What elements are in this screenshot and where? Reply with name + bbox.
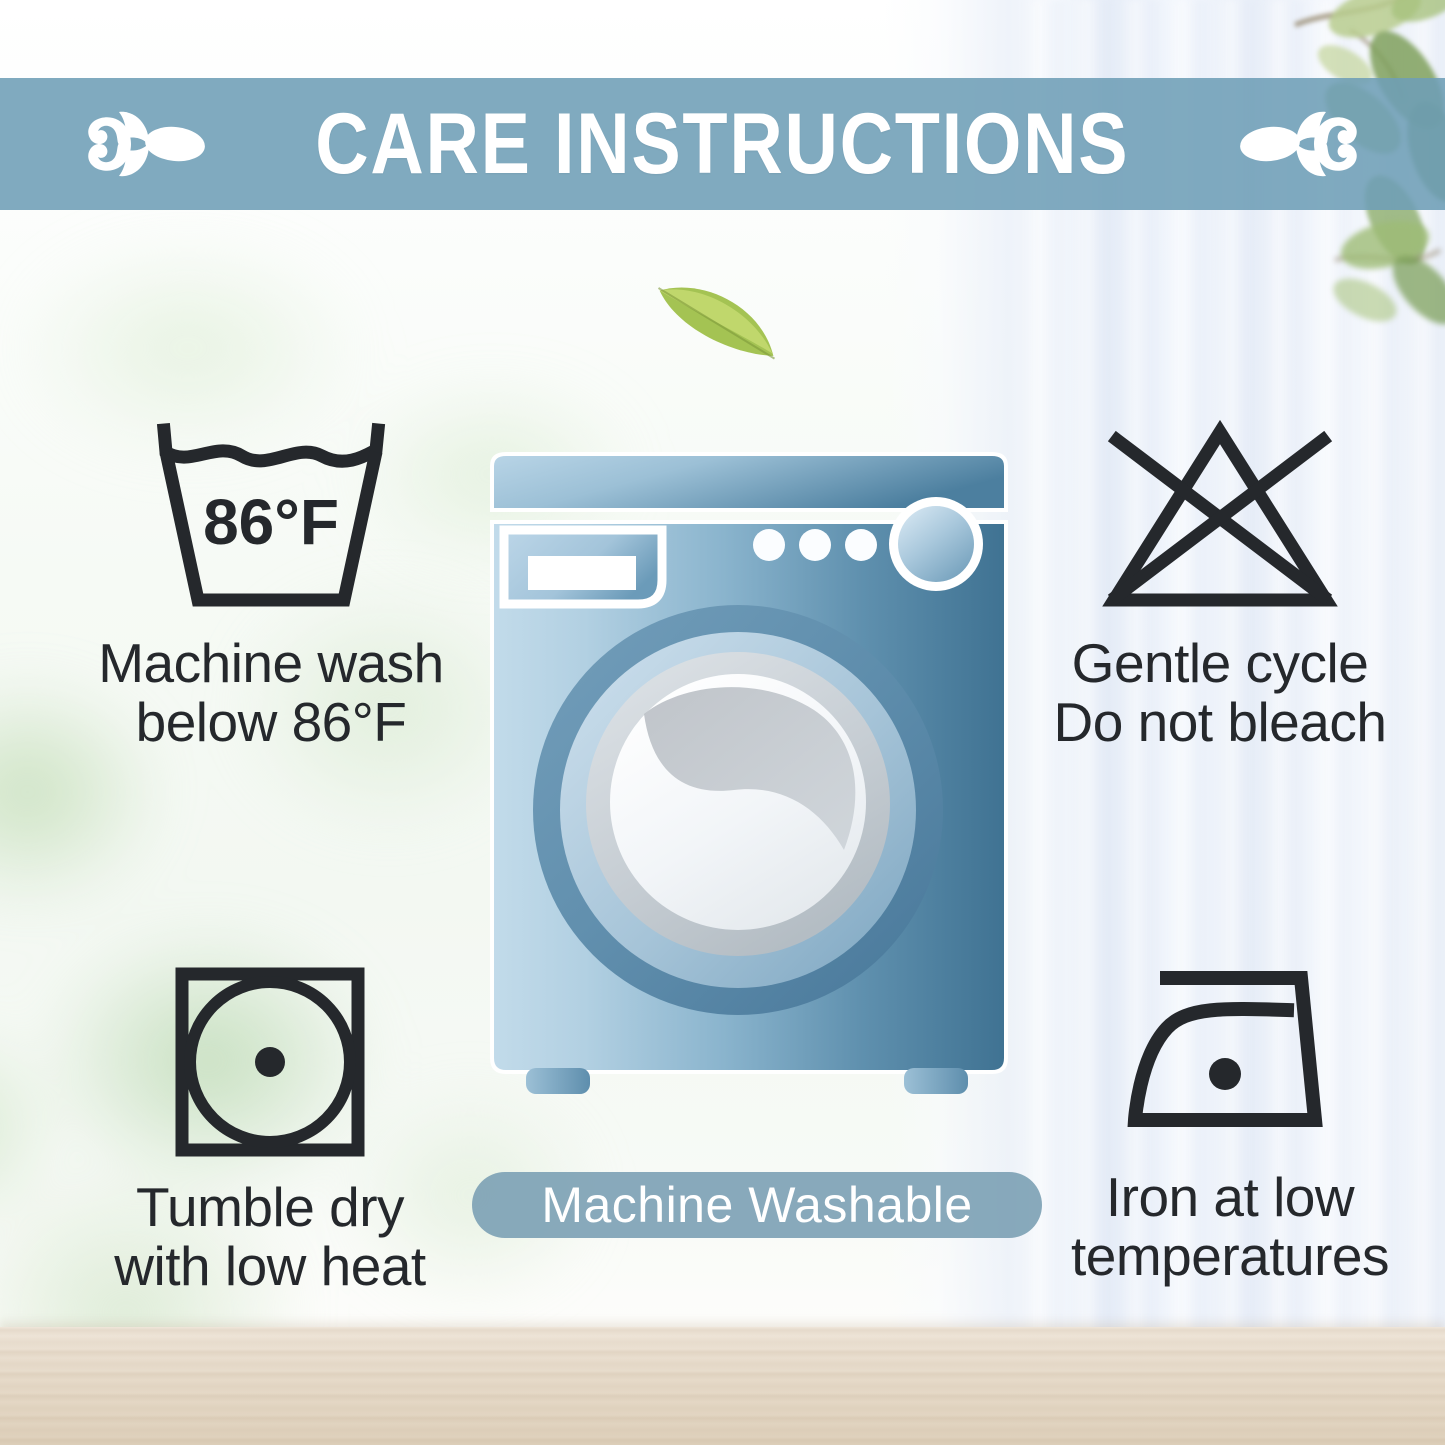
care-symbol-iron: Iron at low temperatures bbox=[1030, 962, 1430, 1287]
indicator-light-2 bbox=[799, 529, 831, 561]
fleur-de-lis-right-icon bbox=[1236, 96, 1386, 192]
iron-low-temperature-icon bbox=[1105, 962, 1355, 1152]
header-banner: CARE INSTRUCTIONS bbox=[0, 78, 1445, 210]
page-title: CARE INSTRUCTIONS bbox=[315, 101, 1129, 187]
fleur-de-lis-left-icon bbox=[59, 96, 209, 192]
triangle-crossed-out-icon bbox=[1095, 418, 1345, 618]
indicator-light-3 bbox=[845, 529, 877, 561]
detergent-drawer-handle[interactable] bbox=[528, 556, 636, 590]
care-instructions-poster: CARE INSTRUCTIONS 86°F Machine wash belo… bbox=[0, 0, 1445, 1445]
washer-foot-left bbox=[526, 1068, 590, 1094]
indicator-light-1 bbox=[753, 529, 785, 561]
dial-knob[interactable] bbox=[898, 506, 974, 582]
foliage-branch-lower-icon bbox=[1215, 190, 1445, 330]
floating-leaf-icon bbox=[640, 272, 790, 382]
machine-washable-badge-label: Machine Washable bbox=[541, 1180, 972, 1230]
care-symbol-label-machine-wash: Machine wash below 86°F bbox=[98, 634, 444, 753]
wash-tub-icon: 86°F bbox=[146, 418, 396, 618]
care-symbol-machine-wash: 86°F Machine wash below 86°F bbox=[36, 418, 506, 753]
care-symbol-label-tumble-dry: Tumble dry with low heat bbox=[114, 1178, 425, 1297]
care-symbol-tumble-dry: Tumble dry with low heat bbox=[70, 962, 470, 1297]
care-symbol-label-do-not-bleach: Gentle cycle Do not bleach bbox=[1054, 634, 1387, 753]
wash-temperature-value: 86°F bbox=[203, 486, 339, 558]
machine-washable-badge: Machine Washable bbox=[472, 1172, 1042, 1238]
washer-foot-right bbox=[904, 1068, 968, 1094]
care-symbol-do-not-bleach: Gentle cycle Do not bleach bbox=[1010, 418, 1430, 753]
care-symbol-label-iron: Iron at low temperatures bbox=[1071, 1168, 1389, 1287]
tumble-dry-low-heat-icon bbox=[170, 962, 370, 1162]
wood-table-grain bbox=[0, 1327, 1445, 1445]
washing-machine-illustration bbox=[484, 452, 1014, 1124]
